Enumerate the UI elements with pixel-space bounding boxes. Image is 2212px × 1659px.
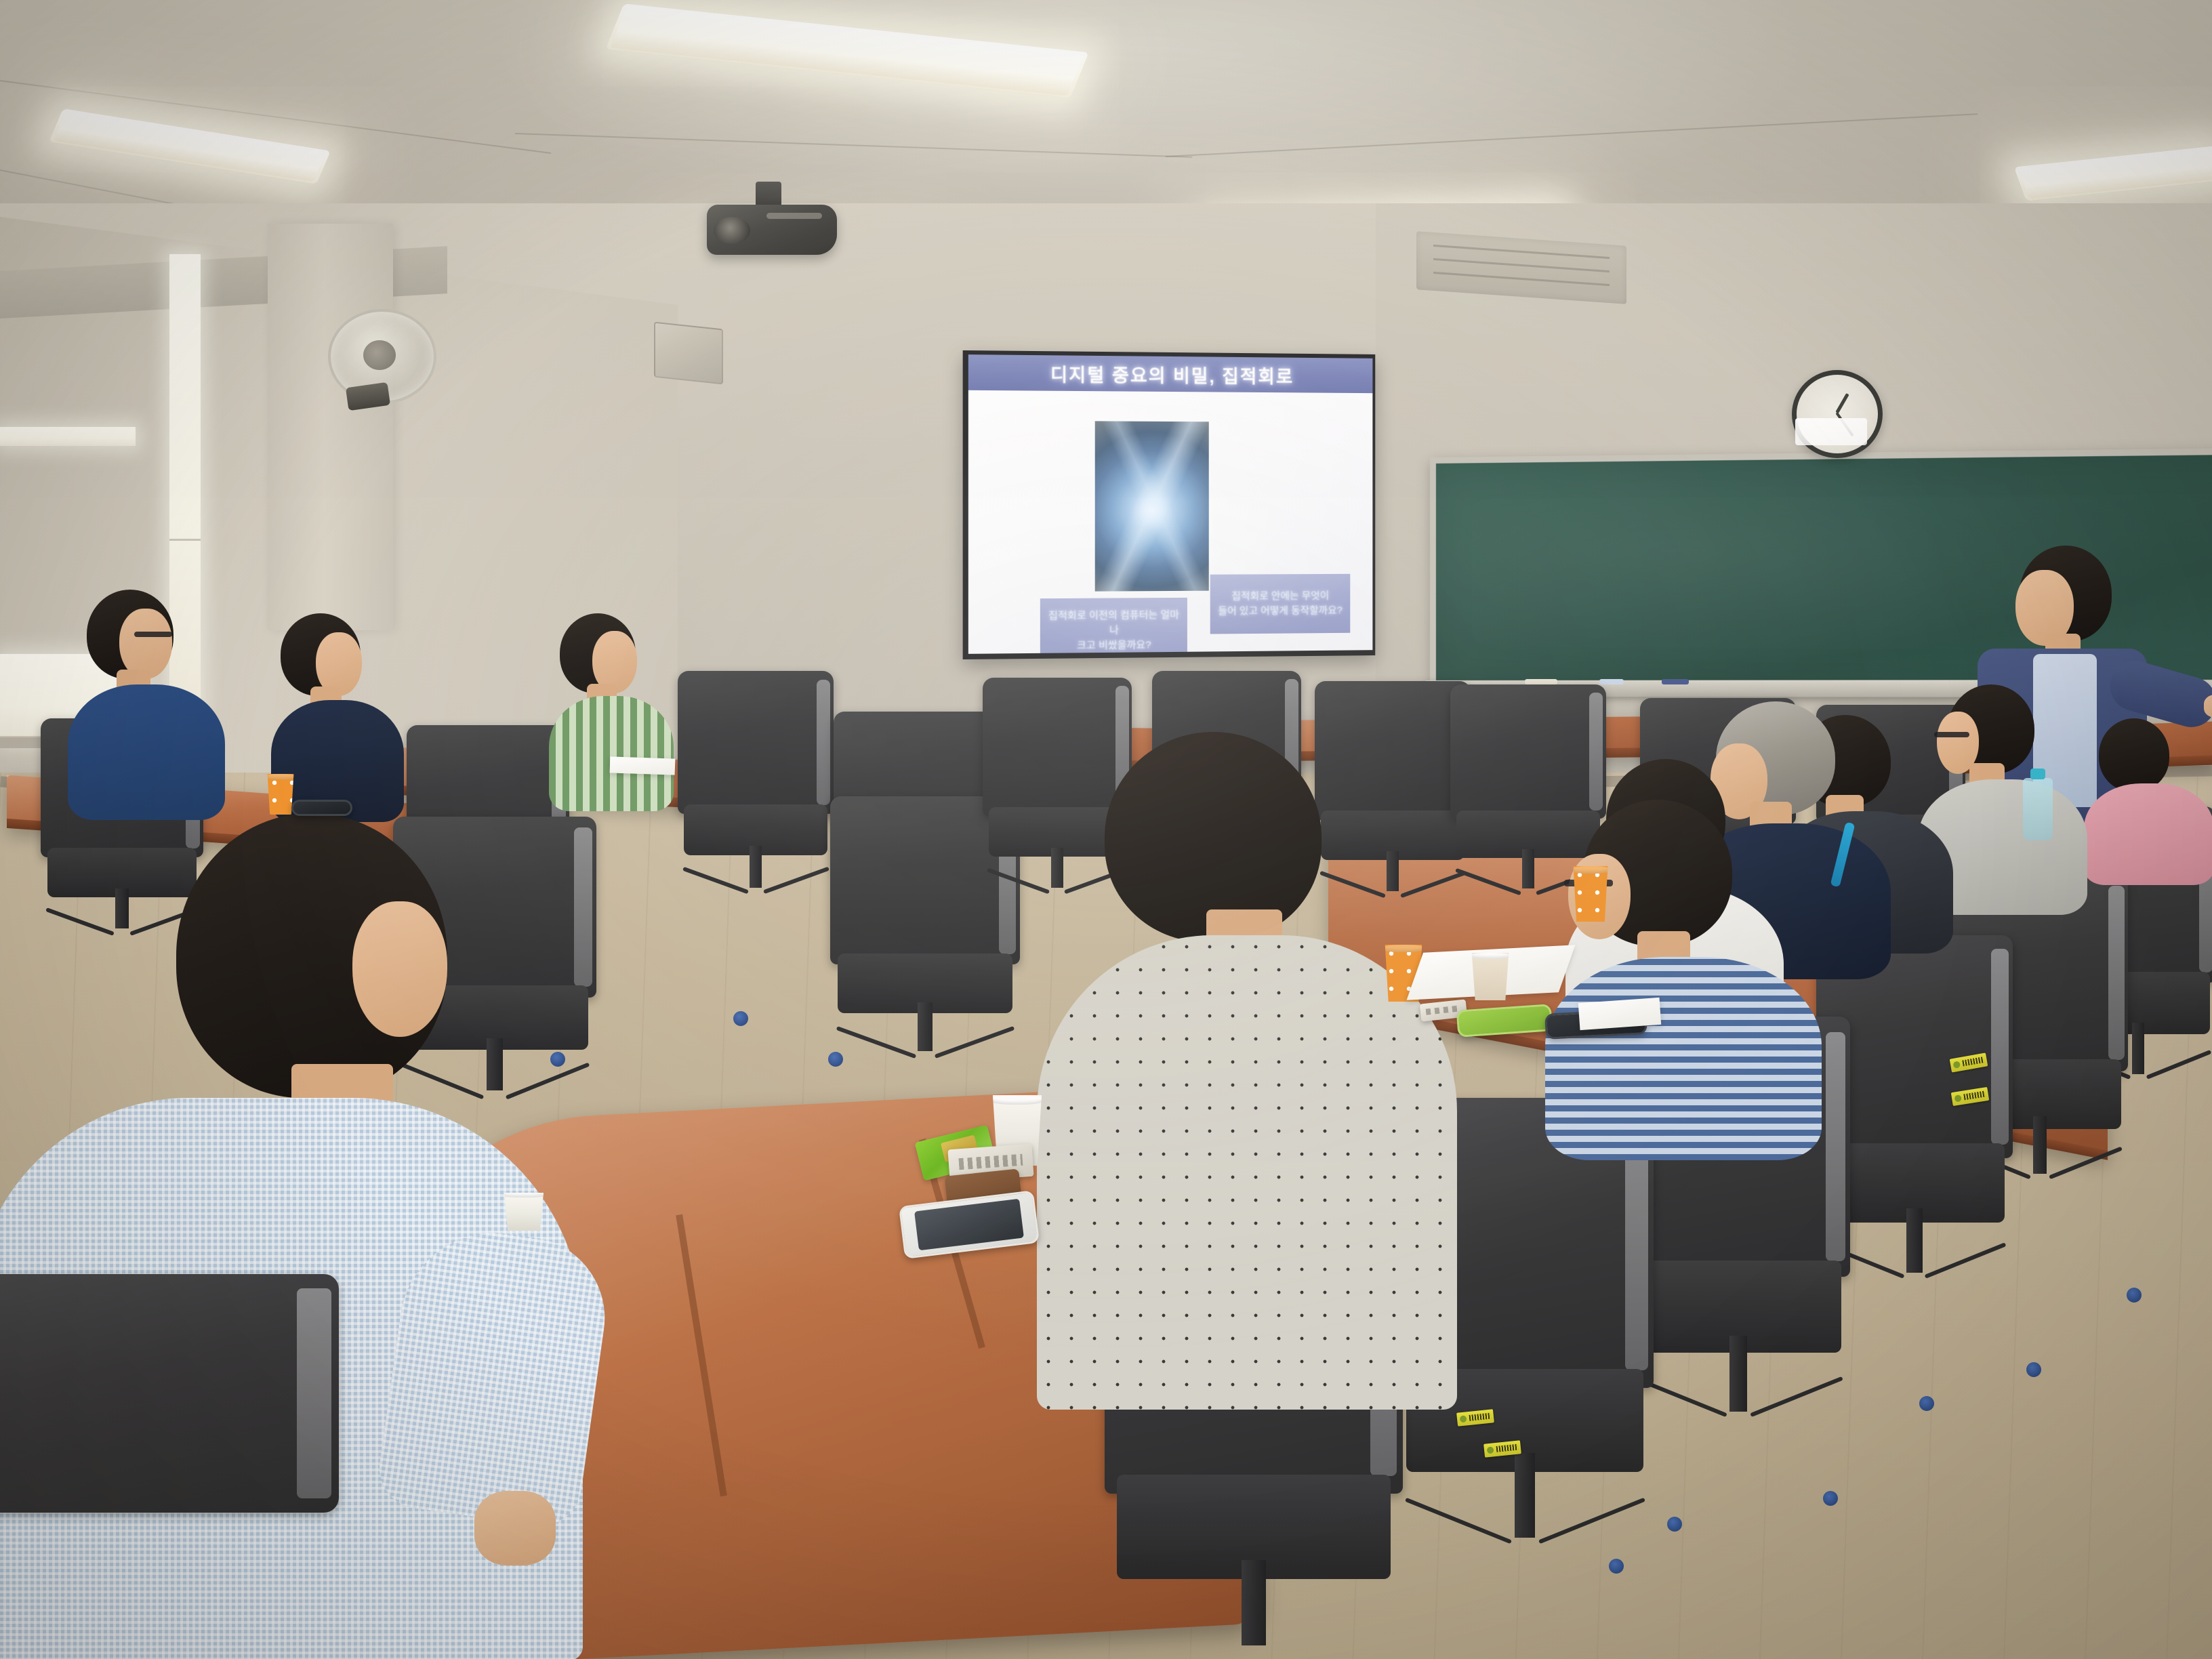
photo-scene: 디지털 중요의 비밀, 집적회로 집적회로 이전의 컴퓨터는 얼마나 크고 비쌌…: [0, 0, 2212, 1659]
slide-callout-right-text: 집적회로 안에는 무엇이 들어 있고 어떻게 동작할까요?: [1218, 589, 1342, 619]
chair-caster: [733, 1011, 748, 1026]
chalk-piece: [1525, 679, 1557, 684]
chalk-piece: [1599, 679, 1624, 684]
chair-caster: [1823, 1491, 1838, 1506]
paper-cup-white: [501, 1193, 546, 1231]
paper-cup-beige: [1469, 953, 1511, 1000]
slide-photo-image: [1095, 421, 1209, 591]
chair-caster: [1667, 1517, 1682, 1532]
wall-mounted-fan: [319, 305, 441, 407]
paper-cup-orange-dot: [1571, 866, 1610, 922]
slide-title-bar: 디지털 중요의 비밀, 집적회로: [968, 354, 1373, 393]
document-paper: [1578, 998, 1661, 1030]
water-bottle: [2023, 778, 2053, 840]
document-paper: [610, 756, 676, 775]
slide-callout-left-text: 집적회로 이전의 컴퓨터는 얼마나 크고 비쌌을까요?: [1047, 608, 1181, 653]
slide-callout-right: 집적회로 안에는 무엇이 들어 있고 어떻게 동작할까요?: [1210, 574, 1351, 634]
attendee-back-left-1: [68, 590, 244, 813]
attendee-right-1: [1545, 800, 1843, 1152]
chair-caster: [1609, 1559, 1624, 1574]
window-upper-strip: [0, 427, 136, 446]
slide-callout-left: 집적회로 이전의 컴퓨터는 얼마나 크고 비쌌을까요?: [1040, 598, 1187, 654]
attendee-front-center: [1037, 732, 1471, 1410]
attendee-back-left-3: [549, 613, 691, 817]
chair-caster: [2026, 1362, 2041, 1377]
chair-caster: [1919, 1396, 1934, 1411]
projection-screen: 디지털 중요의 비밀, 집적회로 집적회로 이전의 컴퓨터는 얼마나 크고 비쌌…: [963, 350, 1376, 659]
wall-speaker: [654, 322, 723, 385]
presentation-slide: 디지털 중요의 비밀, 집적회로 집적회로 이전의 컴퓨터는 얼마나 크고 비쌌…: [968, 354, 1373, 654]
smartphone-dark[interactable]: [291, 800, 352, 816]
ceiling-projector: [701, 182, 840, 258]
chair[interactable]: [678, 671, 834, 901]
attendee-right-6: [2084, 718, 2212, 874]
chair-caster: [2127, 1288, 2142, 1303]
chair[interactable]: [0, 1274, 339, 1659]
chalk-piece: [1662, 679, 1689, 684]
chair-caster: [828, 1052, 843, 1067]
wall-pillar: [268, 224, 393, 630]
slide-title: 디지털 중요의 비밀, 집적회로: [1050, 360, 1294, 388]
wall-clock: [1792, 370, 1883, 458]
